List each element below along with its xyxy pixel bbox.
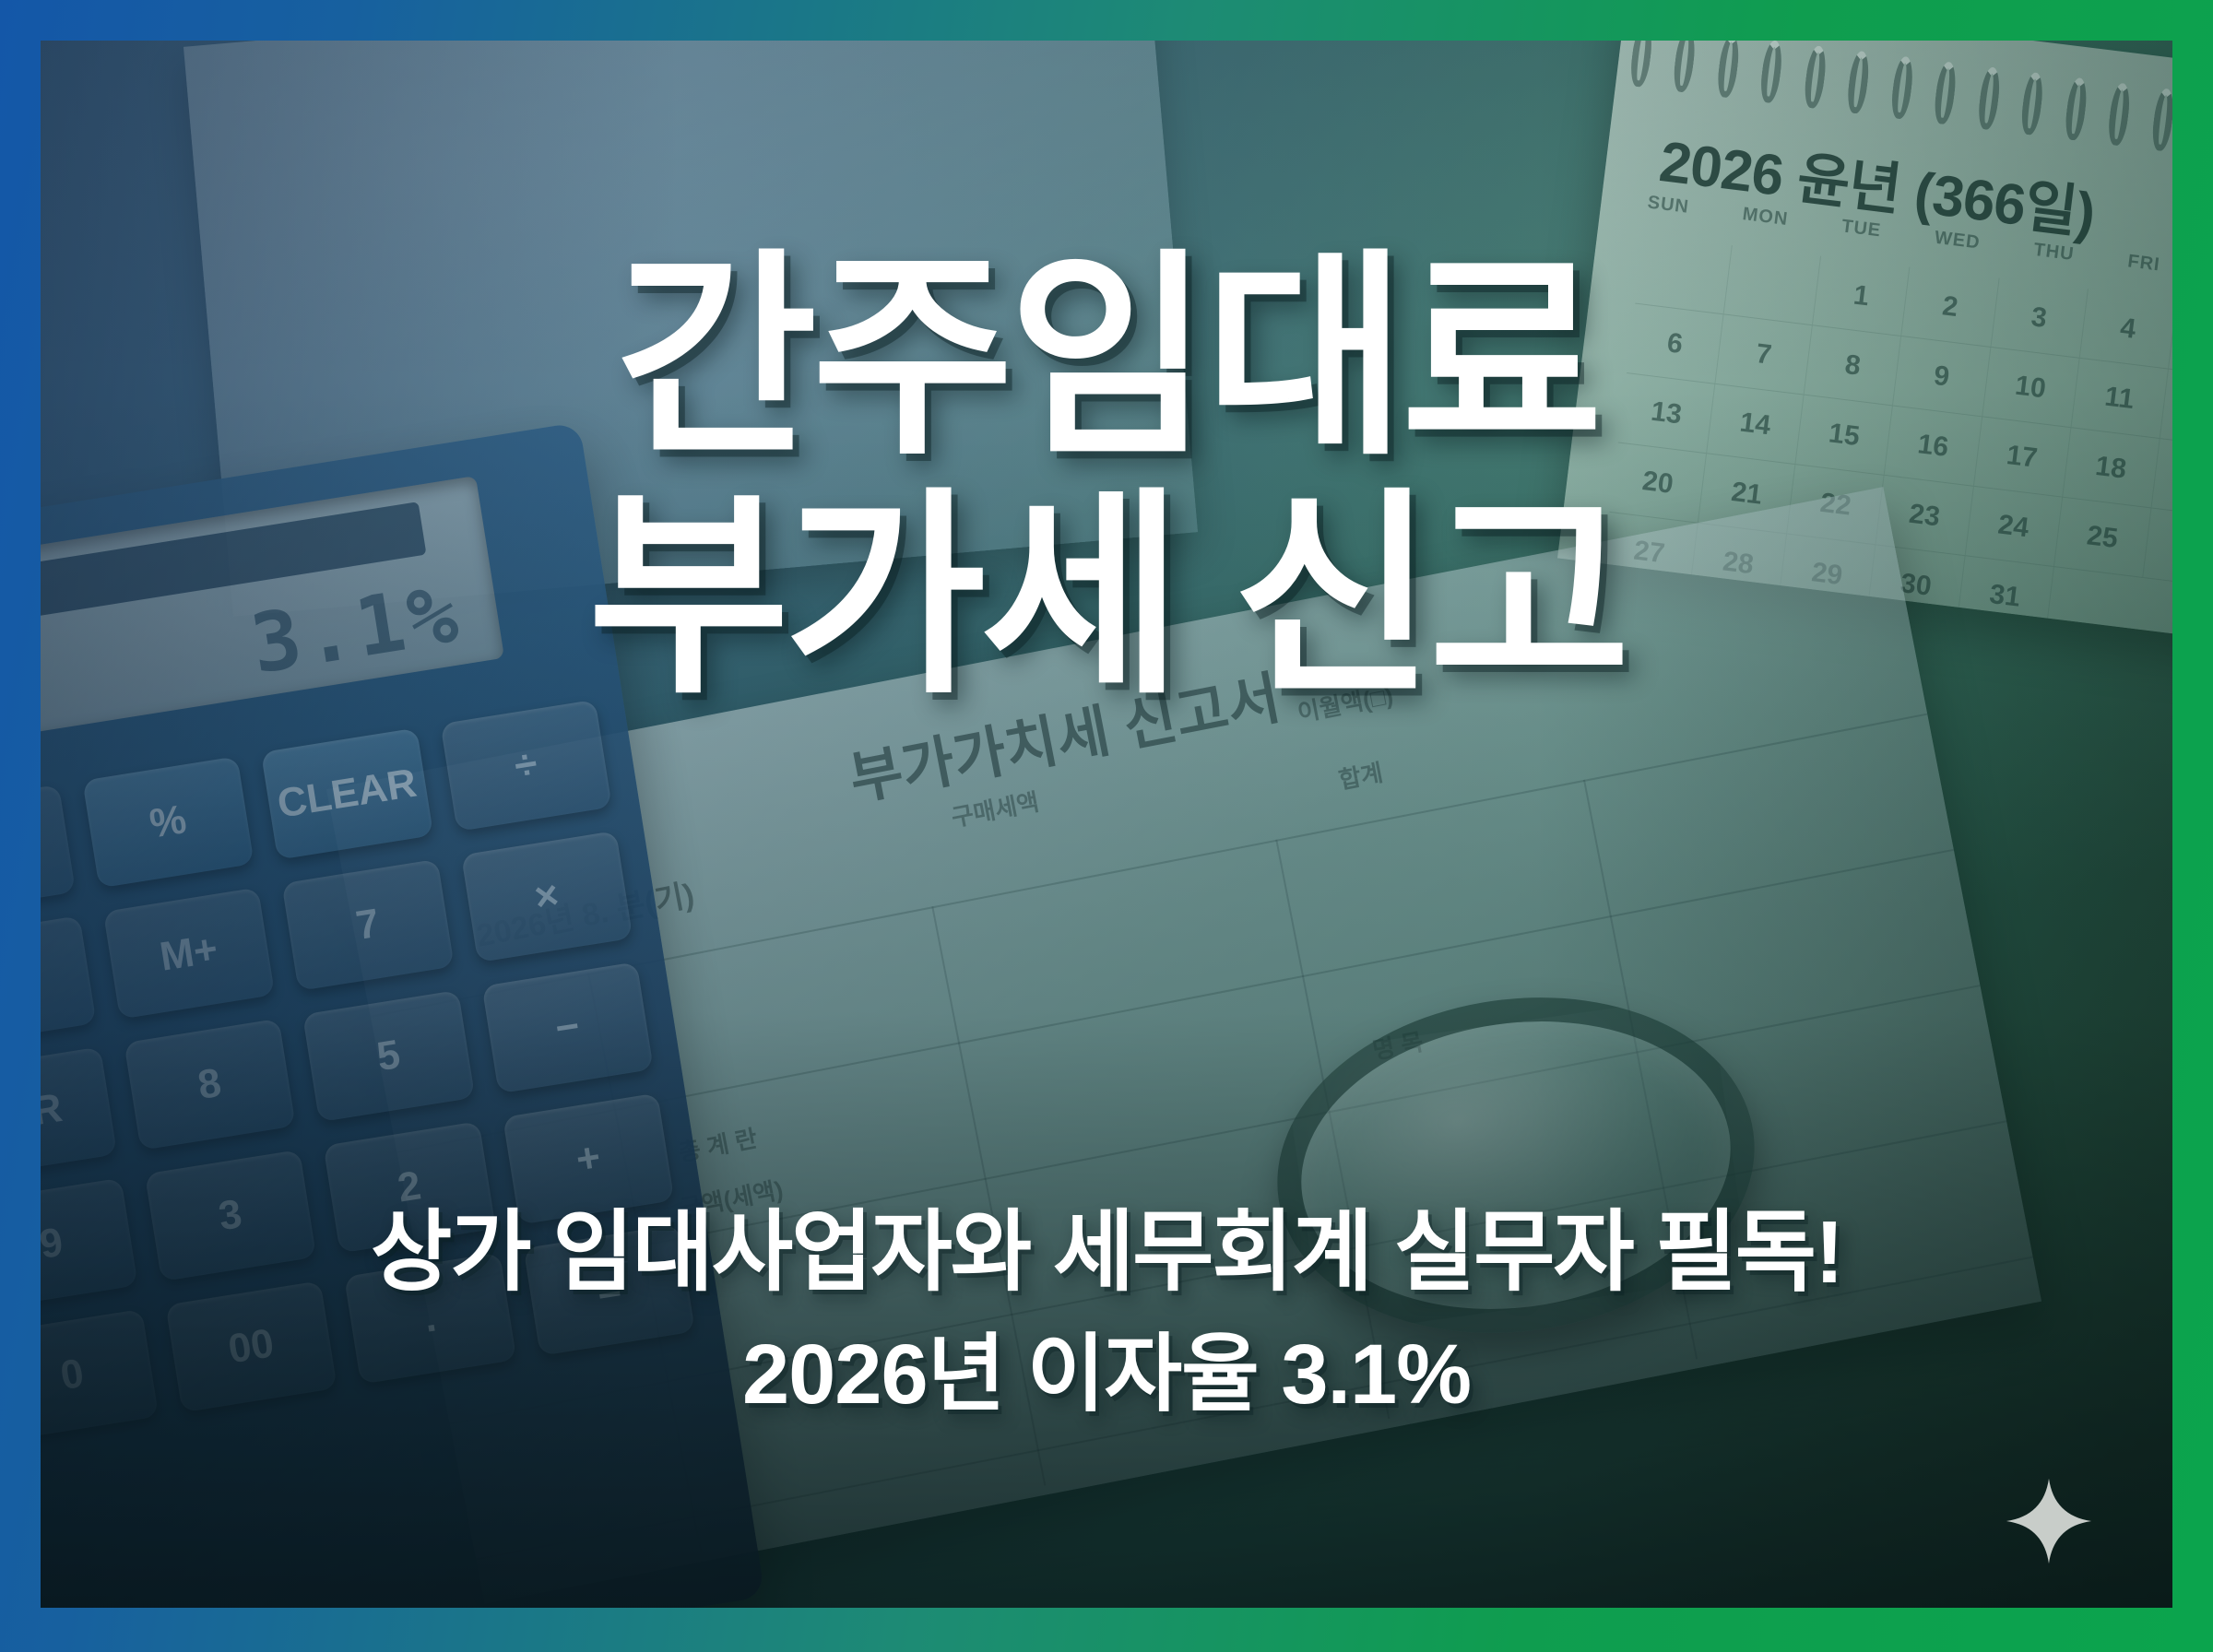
headline-line-2: 부가세 신고 [41,490,2172,704]
subtitle-line-2: 2026년 이자율 3.1% [41,1325,2172,1425]
subtitle-block: 상가 임대사업자와 세무회계 실무자 필독! 2026년 이자율 3.1% [41,1200,2172,1425]
poster-frame: 2026 윤년 (366일) SUN MON TUE WED THU FRI S… [0,0,2213,1652]
subtitle-line-1: 상가 임대사업자와 세무회계 실무자 필독! [41,1200,2172,1304]
sparkle-icon [2005,1477,2093,1565]
headline-line-1: 간주임대료 [41,251,2172,466]
headline-block: 간주임대료 부가세 신고 [41,251,2172,704]
poster-canvas: 2026 윤년 (366일) SUN MON TUE WED THU FRI S… [41,41,2172,1608]
